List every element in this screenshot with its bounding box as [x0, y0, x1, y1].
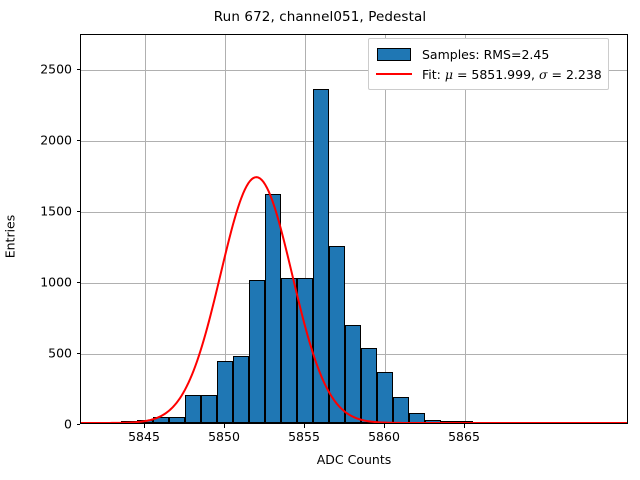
legend-fit-prefix: Fit: [422, 67, 445, 82]
legend-label-samples: Samples: RMS=2.45 [422, 47, 549, 62]
fit-curve [81, 35, 627, 423]
y-tick-mark [77, 69, 81, 70]
y-tick-mark [77, 353, 81, 354]
x-tick-label: 5845 [128, 429, 160, 444]
y-tick-mark [77, 211, 81, 212]
line-swatch-icon [376, 73, 412, 75]
y-tick-label: 1500 [0, 203, 72, 218]
y-tick-label: 0 [0, 417, 72, 432]
legend-fit-sigma-value: = 2.238 [548, 67, 602, 82]
legend-swatch-samples [375, 47, 413, 61]
legend: Samples: RMS=2.45 Fit: μ = 5851.999, σ =… [368, 38, 609, 90]
legend-fit-sigma-symbol: σ [539, 67, 548, 82]
legend-item-fit: Fit: μ = 5851.999, σ = 2.238 [375, 64, 602, 84]
x-tick-mark [144, 424, 145, 428]
x-tick-mark [304, 424, 305, 428]
x-tick-label: 5860 [368, 429, 400, 444]
y-tick-mark [77, 282, 81, 283]
y-tick-label: 1000 [0, 274, 72, 289]
page-title: Run 672, channel051, Pedestal [0, 9, 640, 25]
legend-fit-mu-value: = 5851.999, [453, 67, 539, 82]
patch-swatch-icon [377, 48, 411, 61]
legend-swatch-fit [375, 67, 413, 81]
x-tick-label: 5855 [288, 429, 320, 444]
y-tick-label: 500 [0, 345, 72, 360]
y-tick-mark [77, 140, 81, 141]
x-tick-mark [384, 424, 385, 428]
y-tick-mark [77, 424, 81, 425]
fit-curve-path [81, 177, 627, 423]
legend-label-fit: Fit: μ = 5851.999, σ = 2.238 [422, 67, 602, 82]
x-tick-mark [464, 424, 465, 428]
figure-canvas: Run 672, channel051, Pedestal 5845585058… [0, 0, 640, 480]
legend-fit-mu-symbol: μ [445, 67, 453, 82]
y-tick-label: 2000 [0, 132, 72, 147]
legend-item-samples: Samples: RMS=2.45 [375, 44, 602, 64]
x-axis-label: ADC Counts [80, 452, 628, 467]
x-tick-label: 5850 [208, 429, 240, 444]
x-tick-mark [224, 424, 225, 428]
plot-area [80, 34, 628, 424]
y-tick-label: 2500 [0, 61, 72, 76]
x-tick-label: 5865 [448, 429, 480, 444]
